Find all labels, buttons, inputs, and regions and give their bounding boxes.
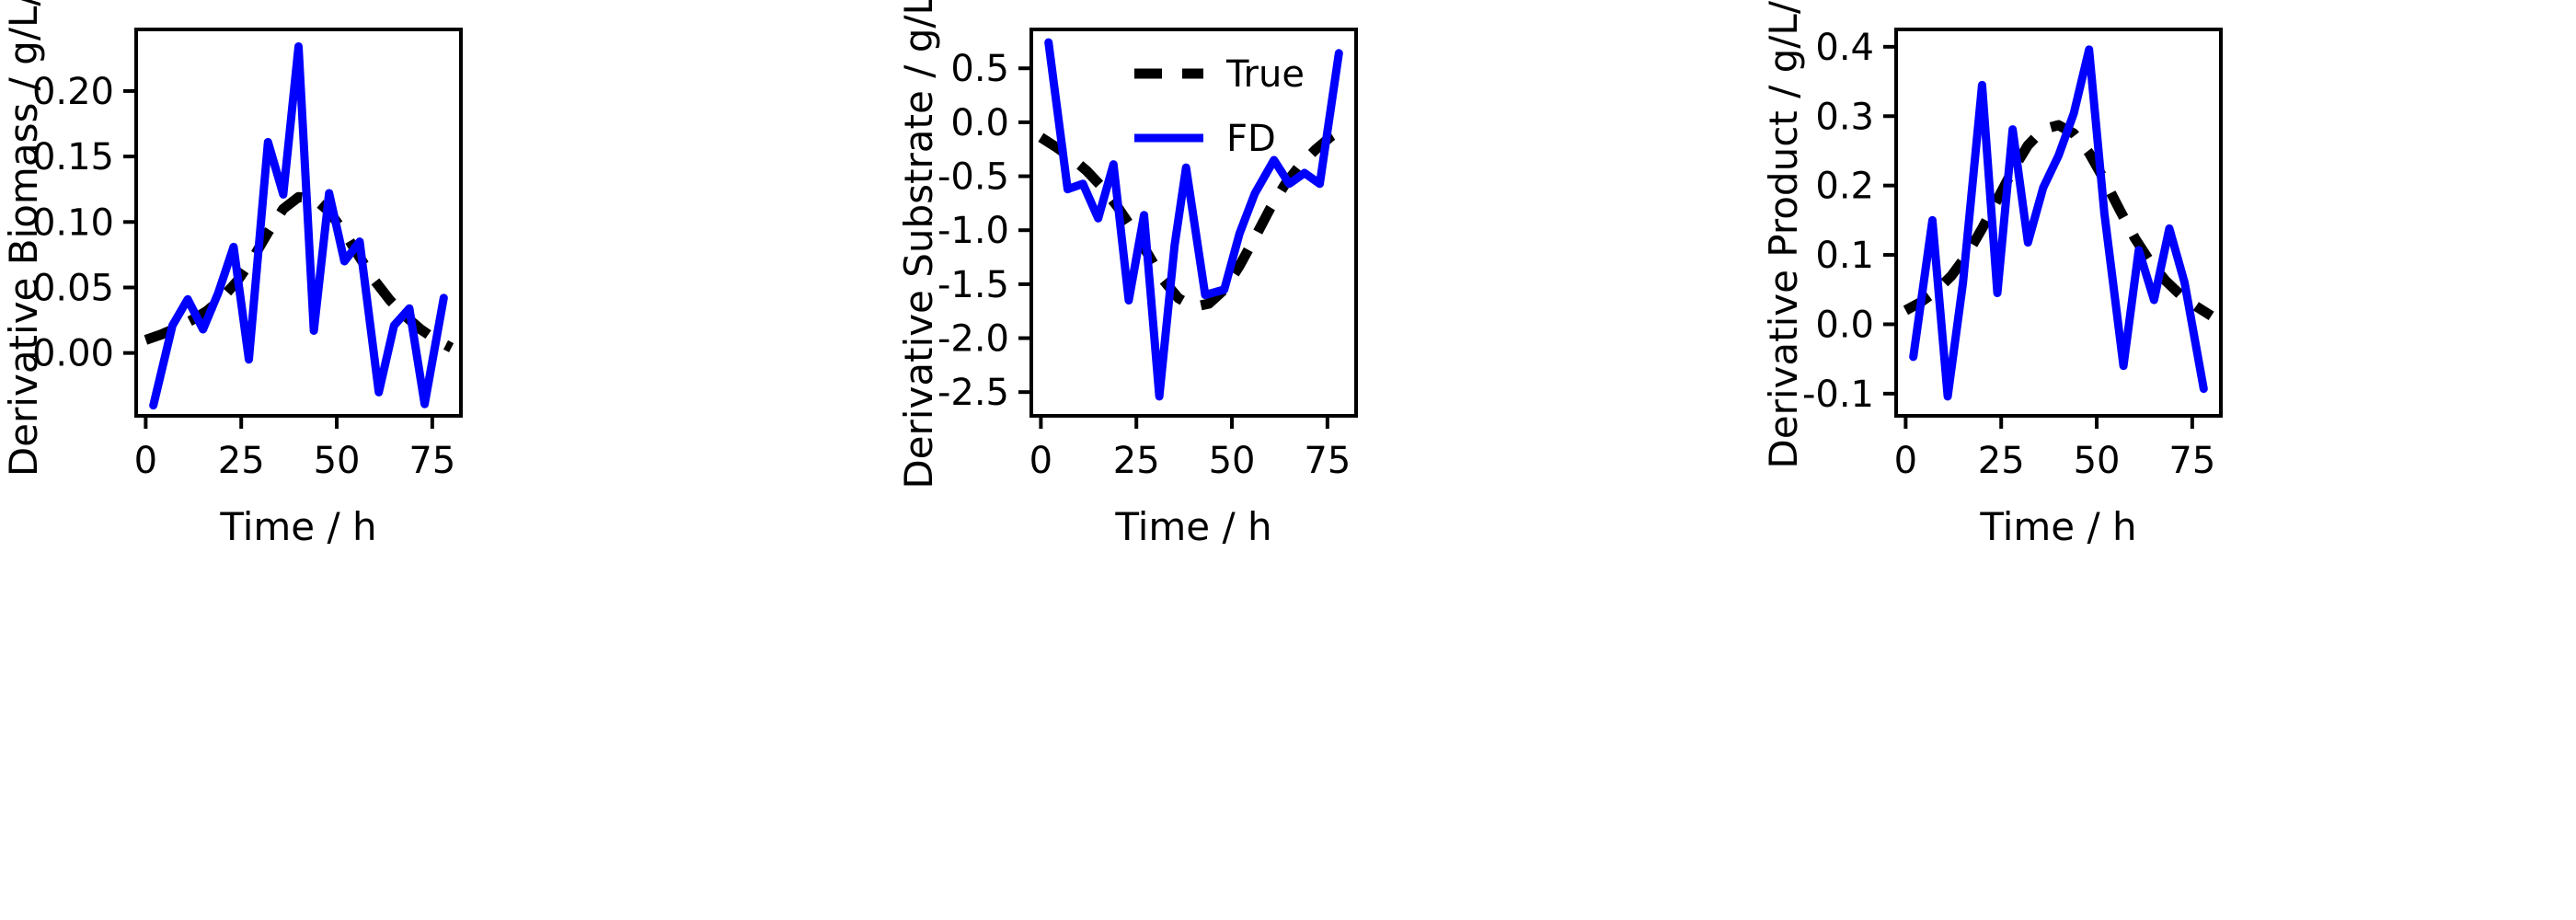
figure-root: 0.000.050.100.150.20 0255075 Derivative … [0, 0, 2576, 920]
x-tick-label: 50 [2074, 440, 2121, 482]
x-tick-label: 25 [1978, 440, 2025, 482]
x-tick-label: 0 [1029, 440, 1052, 482]
x-axis-label: Time / h [219, 504, 376, 549]
y-tick-label: -0.1 [1802, 374, 1874, 416]
x-tick-labels: 0255075 [1894, 440, 2216, 482]
y-axis-label: Derivative Substrate / g/L/h [896, 0, 941, 489]
x-tick-label: 0 [134, 440, 157, 482]
x-tick-label: 0 [1894, 440, 1917, 482]
y-tick-label: 0.5 [950, 48, 1009, 90]
y-tick-label: 0.2 [1815, 166, 1874, 208]
panel-substrate-svg: 0.50.0-0.5-1.0-1.5-2.0-2.5 0255075 Deriv… [858, 0, 1717, 920]
x-tick-label: 25 [1113, 440, 1160, 482]
panel-product: 0.40.30.20.10.0-0.1 0255075 Derivative P… [1717, 0, 2575, 920]
true-series-line [145, 197, 451, 348]
y-tick-label: 0.4 [1815, 27, 1874, 69]
y-tick-label: -2.0 [937, 318, 1009, 361]
x-tick-labels: 0255075 [1029, 440, 1351, 482]
panel-substrate: 0.50.0-0.5-1.0-1.5-2.0-2.5 0255075 Deriv… [858, 0, 1717, 920]
y-tick-label: -2.5 [937, 372, 1009, 414]
panel-product-svg: 0.40.30.20.10.0-0.1 0255075 Derivative P… [1717, 0, 2576, 920]
x-tick-label: 50 [314, 440, 361, 482]
legend: True FD [1134, 53, 1305, 160]
y-tick-label: 0.0 [950, 102, 1009, 144]
fd-series-line [1914, 50, 2204, 397]
y-tick-label: 0.0 [1815, 304, 1874, 346]
panel-biomass: 0.000.050.100.150.20 0255075 Derivative … [0, 0, 858, 920]
x-tick-label: 75 [1304, 440, 1351, 482]
x-axis-label: Time / h [1114, 504, 1271, 549]
y-tick-label: -0.5 [937, 156, 1009, 199]
fd-series-line [154, 47, 444, 406]
x-tick-labels: 0255075 [134, 440, 456, 482]
y-tick-labels: 0.40.30.20.10.0-0.1 [1802, 27, 1874, 416]
y-tick-labels: 0.50.0-0.5-1.0-1.5-2.0-2.5 [937, 48, 1009, 414]
y-tick-label: 0.3 [1815, 96, 1874, 138]
x-tick-label: 25 [218, 440, 265, 482]
y-axis-label: Derivative Product / g/L/h [1761, 0, 1806, 469]
legend-true-label: True [1225, 53, 1305, 96]
x-tick-label: 75 [408, 440, 455, 482]
y-tick-label: -1.0 [937, 210, 1009, 252]
x-axis-label: Time / h [1979, 504, 2136, 549]
x-tick-label: 50 [1209, 440, 1256, 482]
y-tick-label: -1.5 [937, 264, 1009, 306]
panel-biomass-svg: 0.000.050.100.150.20 0255075 Derivative … [0, 0, 858, 920]
y-tick-label: 0.1 [1815, 235, 1874, 277]
y-axis-label: Derivative Biomass / g/L/h [1, 0, 46, 477]
x-tick-label: 75 [2168, 440, 2215, 482]
legend-fd-label: FD [1226, 118, 1276, 160]
